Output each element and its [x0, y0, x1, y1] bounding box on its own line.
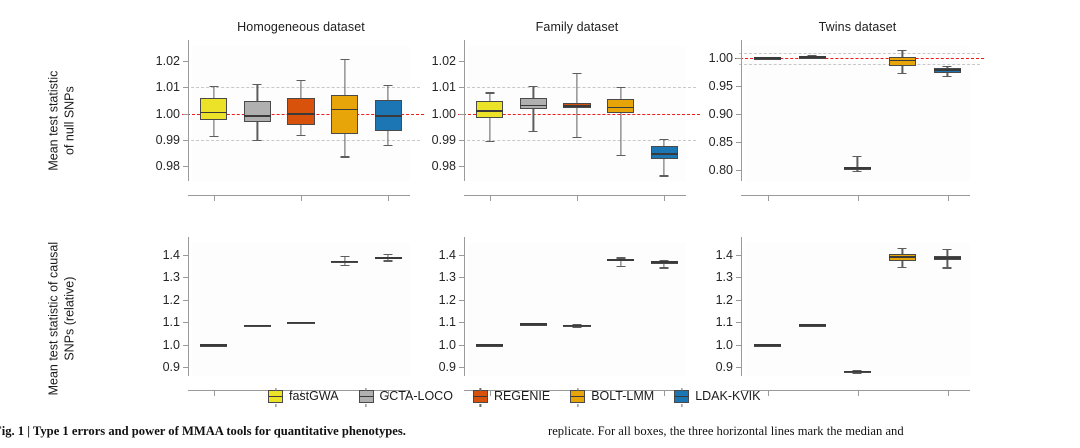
legend-swatch-icon	[359, 390, 374, 403]
whisker	[620, 87, 621, 155]
median-line	[889, 60, 917, 62]
median-line	[287, 322, 314, 324]
figure-root: Mean test statistic of null SNPs Mean te…	[0, 0, 1080, 448]
boxplot-regenie	[844, 46, 872, 181]
whisker-cap	[898, 50, 907, 51]
median-line	[375, 257, 402, 259]
median-line	[651, 261, 678, 263]
whisker-cap	[853, 156, 862, 157]
plot-area-null-family	[468, 46, 686, 181]
y-tick	[183, 345, 188, 346]
plot-area-null-homogeneous	[192, 46, 410, 181]
median-line	[934, 257, 962, 259]
whisker-cap	[209, 86, 218, 87]
whisker-cap	[340, 256, 349, 257]
legend-label: fastGWA	[289, 389, 339, 403]
y-tick-label: 1.01	[156, 80, 180, 94]
median-line	[476, 344, 503, 346]
panel-causal-homogeneous: 0.91.01.11.21.31.4	[192, 243, 410, 376]
y-axis-line	[464, 40, 465, 181]
legend-item-gcta-loco[interactable]: GCTA-LOCO	[359, 389, 453, 403]
y-tick	[736, 58, 741, 59]
whisker-cap	[660, 175, 669, 176]
y-tick-label: 0.99	[432, 133, 456, 147]
whisker-cap	[296, 135, 305, 136]
legend-label: LDAK-KVIK	[695, 389, 760, 403]
median-line	[563, 105, 590, 107]
y-tick	[183, 255, 188, 256]
y-tick-label: 1.00	[432, 107, 456, 121]
y-tick	[183, 87, 188, 88]
panel-causal-family: 0.91.01.11.21.31.4	[468, 243, 686, 376]
y-tick-label: 1.3	[163, 270, 180, 284]
boxplot-bolt-lmm	[331, 46, 358, 181]
box-body	[287, 98, 314, 125]
y-tick-label: 0.99	[156, 133, 180, 147]
plot-area-causal-twins	[745, 243, 970, 376]
median-line	[200, 112, 227, 114]
x-tick	[858, 196, 859, 201]
boxplot-fastgwa	[200, 46, 227, 181]
y-tick	[459, 367, 464, 368]
y-tick	[736, 142, 741, 143]
x-axis-line	[741, 390, 970, 391]
whisker-cap	[898, 73, 907, 74]
y-axis-title-top: Mean test statistic of null SNPs	[46, 21, 77, 221]
x-axis-line	[741, 195, 970, 196]
plot-area-causal-family	[468, 243, 686, 376]
y-tick	[736, 300, 741, 301]
y-tick-label: 1.02	[156, 54, 180, 68]
y-tick-label: 0.85	[709, 135, 733, 149]
y-tick-label: 1.0	[163, 338, 180, 352]
boxplot-gcta-loco	[799, 46, 827, 181]
y-tick-label: 0.98	[432, 159, 456, 173]
y-tick	[459, 255, 464, 256]
median-line	[331, 261, 358, 263]
legend-label: REGENIE	[494, 389, 550, 403]
panel-null-twins: Twins dataset0.800.850.900.951.00	[745, 46, 970, 181]
whisker-cap	[898, 248, 907, 249]
y-tick	[183, 300, 188, 301]
median-line	[607, 107, 634, 109]
box-body	[244, 101, 271, 122]
boxplot-bolt-lmm	[889, 243, 917, 376]
whisker-cap	[209, 136, 218, 137]
panel-title-null-twins: Twins dataset	[745, 20, 970, 34]
y-axis-title-top-line2: of null SNPs	[62, 21, 78, 221]
y-tick	[736, 86, 741, 87]
boxplot-ldak-kvik	[375, 243, 402, 376]
median-line	[476, 110, 503, 112]
y-axis-title-bottom: Mean test statistic of causal SNPs (rela…	[46, 209, 77, 429]
y-tick-label: 1.2	[439, 293, 456, 307]
y-tick	[736, 345, 741, 346]
box-body	[520, 98, 547, 109]
median-line	[375, 115, 402, 117]
median-line	[754, 344, 782, 346]
boxplot-ldak-kvik	[375, 46, 402, 181]
x-tick	[948, 391, 949, 396]
whisker-cap	[943, 66, 952, 67]
legend: fastGWAGCTA-LOCOREGENIEBOLT-LMMLDAK-KVIK	[268, 389, 761, 403]
y-tick-label: 1.2	[716, 293, 733, 307]
plot-area-null-twins	[745, 46, 970, 181]
median-line	[651, 153, 678, 155]
whisker-cap	[296, 80, 305, 81]
whisker-cap	[853, 171, 862, 172]
y-axis-line	[741, 237, 742, 376]
x-axis-line	[464, 195, 686, 196]
y-tick	[736, 367, 741, 368]
figure-caption-left: Fig. 1 | Type 1 errors and power of MMAA…	[0, 422, 554, 440]
median-line	[754, 57, 782, 59]
whisker-cap	[485, 141, 494, 142]
figure-caption-left-text: Fig. 1 | Type 1 errors and power of MMAA…	[0, 424, 406, 438]
x-tick	[214, 391, 215, 396]
median-line	[844, 371, 872, 373]
y-tick-label: 0.80	[709, 163, 733, 177]
median-line	[520, 105, 547, 107]
y-tick	[459, 322, 464, 323]
y-axis-title-top-line1: Mean test statistic	[46, 21, 62, 221]
boxplot-regenie	[563, 46, 590, 181]
x-tick	[388, 196, 389, 201]
legend-item-fastgwa[interactable]: fastGWA	[268, 389, 339, 403]
y-tick	[183, 322, 188, 323]
box-body	[889, 57, 917, 66]
y-tick-label: 1.4	[439, 248, 456, 262]
whisker-cap	[660, 139, 669, 140]
x-tick	[301, 196, 302, 201]
boxplot-bolt-lmm	[331, 243, 358, 376]
boxplot-fastgwa	[754, 243, 782, 376]
median-line	[200, 344, 227, 346]
y-tick	[459, 61, 464, 62]
x-tick	[768, 391, 769, 396]
y-tick-label: 1.00	[156, 107, 180, 121]
y-tick	[736, 170, 741, 171]
boxplot-ldak-kvik	[651, 243, 678, 376]
median-line	[799, 56, 827, 58]
y-tick	[736, 114, 741, 115]
boxplot-bolt-lmm	[607, 243, 634, 376]
whisker-cap	[943, 249, 952, 250]
x-tick	[214, 196, 215, 201]
boxplot-regenie	[287, 46, 314, 181]
y-tick-label: 1.00	[709, 51, 733, 65]
whisker-cap	[529, 131, 538, 132]
whisker-cap	[572, 73, 581, 74]
y-tick-label: 1.01	[432, 80, 456, 94]
boxplot-ldak-kvik	[934, 46, 962, 181]
y-tick	[736, 322, 741, 323]
y-tick	[459, 87, 464, 88]
boxplot-ldak-kvik	[651, 46, 678, 181]
panel-title-null-homogeneous: Homogeneous dataset	[192, 20, 410, 34]
boxplot-gcta-loco	[520, 243, 547, 376]
panel-title-null-family: Family dataset	[468, 20, 686, 34]
y-tick-label: 1.02	[432, 54, 456, 68]
y-tick	[459, 166, 464, 167]
boxplot-regenie	[563, 243, 590, 376]
median-line	[799, 324, 827, 326]
boxplot-regenie	[844, 243, 872, 376]
x-tick	[664, 196, 665, 201]
x-tick	[768, 196, 769, 201]
box-body	[200, 98, 227, 120]
median-line	[607, 259, 634, 261]
whisker-cap	[384, 85, 393, 86]
y-tick-label: 1.4	[163, 248, 180, 262]
median-line	[889, 256, 917, 258]
legend-item-bolt-lmm[interactable]: BOLT-LMM	[570, 389, 654, 403]
boxplot-gcta-loco	[520, 46, 547, 181]
y-tick-label: 1.1	[163, 315, 180, 329]
whisker-cap	[340, 59, 349, 60]
figure-caption-right-text: replicate. For all boxes, the three hori…	[548, 424, 904, 438]
y-tick-label: 1.3	[716, 270, 733, 284]
box-body	[331, 95, 358, 134]
legend-item-regenie[interactable]: REGENIE	[473, 389, 550, 403]
whisker-cap	[384, 254, 393, 255]
y-tick	[183, 61, 188, 62]
panel-causal-twins: 0.91.01.11.21.31.4	[745, 243, 970, 376]
y-tick-label: 1.2	[163, 293, 180, 307]
y-tick-label: 1.0	[439, 338, 456, 352]
boxplot-fastgwa	[754, 46, 782, 181]
median-line	[244, 115, 271, 117]
legend-label: BOLT-LMM	[591, 389, 654, 403]
legend-label: GCTA-LOCO	[380, 389, 453, 403]
y-tick-label: 0.95	[709, 79, 733, 93]
y-axis-title-bottom-line1: Mean test statistic of causal	[46, 209, 62, 429]
boxplot-fastgwa	[200, 243, 227, 376]
y-tick-label: 0.9	[163, 360, 180, 374]
boxplot-bolt-lmm	[607, 46, 634, 181]
boxplot-ldak-kvik	[934, 243, 962, 376]
whisker-cap	[485, 92, 494, 93]
whisker-cap	[529, 86, 538, 87]
y-tick	[459, 345, 464, 346]
boxplot-gcta-loco	[244, 46, 271, 181]
x-tick	[490, 196, 491, 201]
y-axis-line	[188, 40, 189, 181]
x-tick	[948, 196, 949, 201]
median-line	[244, 325, 271, 327]
whisker-cap	[384, 145, 393, 146]
y-axis-line	[464, 237, 465, 376]
whisker-cap	[340, 156, 349, 157]
y-tick-label: 1.1	[716, 315, 733, 329]
median-line	[844, 167, 872, 169]
y-tick-label: 0.9	[439, 360, 456, 374]
legend-swatch-icon	[473, 390, 488, 403]
y-tick-label: 1.3	[439, 270, 456, 284]
x-tick	[577, 196, 578, 201]
y-axis-title-bottom-line2: SNPs (relative)	[62, 209, 78, 429]
median-line	[563, 325, 590, 327]
whisker-cap	[253, 84, 262, 85]
boxplot-fastgwa	[476, 243, 503, 376]
median-line	[934, 69, 962, 71]
boxplot-bolt-lmm	[889, 46, 917, 181]
legend-item-ldak-kvik[interactable]: LDAK-KVIK	[674, 389, 760, 403]
panel-null-homogeneous: Homogeneous dataset0.980.991.001.011.02	[192, 46, 410, 181]
legend-swatch-icon	[674, 390, 689, 403]
whisker-cap	[616, 87, 625, 88]
whisker-cap	[660, 267, 669, 268]
boxplot-regenie	[287, 243, 314, 376]
x-tick	[858, 391, 859, 396]
whisker-cap	[616, 155, 625, 156]
figure-caption-right: replicate. For all boxes, the three hori…	[548, 422, 1068, 440]
boxplot-fastgwa	[476, 46, 503, 181]
y-axis-line	[188, 237, 189, 376]
whisker-cap	[384, 260, 393, 261]
plot-area-causal-homogeneous	[192, 243, 410, 376]
boxplot-gcta-loco	[799, 243, 827, 376]
panel-null-family: Family dataset0.980.991.001.011.02	[468, 46, 686, 181]
y-tick-label: 1.4	[716, 248, 733, 262]
whisker-cap	[943, 267, 952, 268]
y-tick-label: 0.9	[716, 360, 733, 374]
median-line	[520, 323, 547, 325]
y-tick	[459, 300, 464, 301]
y-tick	[459, 140, 464, 141]
y-tick	[736, 277, 741, 278]
y-tick	[183, 277, 188, 278]
x-axis-line	[188, 195, 410, 196]
y-tick	[183, 367, 188, 368]
boxplot-gcta-loco	[244, 243, 271, 376]
y-tick-label: 0.90	[709, 107, 733, 121]
median-line	[331, 109, 358, 111]
whisker-cap	[943, 76, 952, 77]
legend-swatch-icon	[570, 390, 585, 403]
y-tick-label: 0.98	[156, 159, 180, 173]
y-axis-line	[741, 40, 742, 181]
y-tick	[459, 114, 464, 115]
whisker-cap	[616, 266, 625, 267]
y-tick	[736, 255, 741, 256]
y-tick	[459, 277, 464, 278]
y-tick-label: 1.1	[439, 315, 456, 329]
y-tick	[183, 166, 188, 167]
legend-swatch-icon	[268, 390, 283, 403]
median-line	[287, 113, 314, 115]
whisker-cap	[572, 137, 581, 138]
y-tick-label: 1.0	[716, 338, 733, 352]
y-tick	[183, 140, 188, 141]
whisker-cap	[253, 140, 262, 141]
y-tick	[183, 114, 188, 115]
whisker-cap	[898, 267, 907, 268]
whisker-cap	[340, 265, 349, 266]
